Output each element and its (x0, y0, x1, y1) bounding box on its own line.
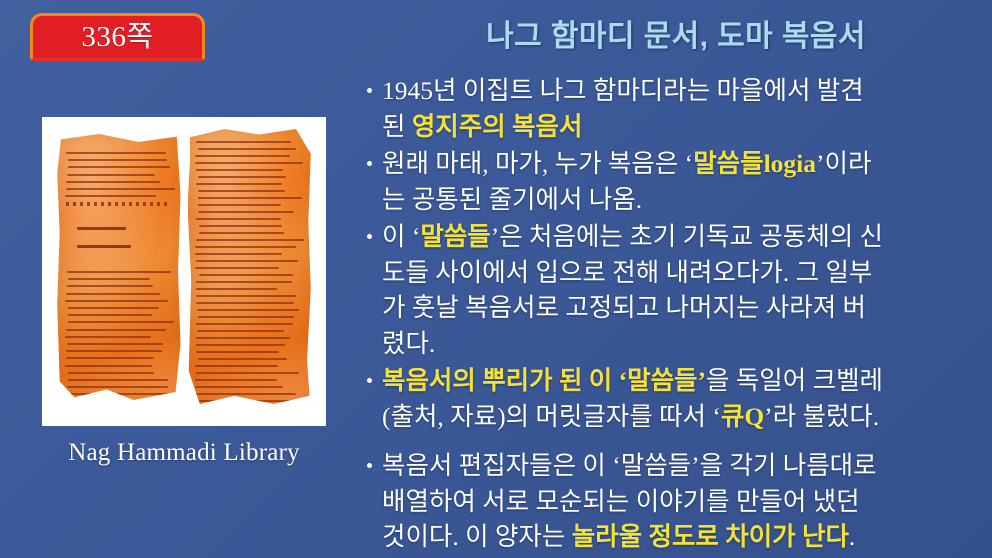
manuscript-text-line (65, 195, 156, 197)
bullet-item: 원래 마태, 마가, 누가 복음은 ‘말씀들logia’이라는 공통된 줄기에서… (365, 146, 985, 217)
bullet-list: 1945년 이집트 나그 함마디라는 마을에서 발견된 영지주의 복음서원래 마… (365, 73, 985, 555)
manuscript-text-line (198, 176, 285, 178)
body-text: 복음서 편집자들은 이 ‘말씀들’을 각기 나름대로 (382, 451, 877, 480)
manuscript-text-line (68, 278, 150, 280)
bullet-dot-icon (367, 88, 372, 93)
manuscript-text-line (196, 218, 281, 220)
papyrus-page-left (57, 134, 180, 400)
bullet-line: 복음서의 뿌리가 된 이 ‘말씀들’을 독일어 크벨레 (382, 363, 985, 399)
manuscript-text-line (195, 267, 279, 269)
bullet-line: 된 영지주의 복음서 (382, 109, 985, 145)
manuscript-text-line (68, 166, 171, 168)
manuscript-text-line (196, 295, 296, 297)
manuscript-text-line (199, 400, 298, 402)
manuscript-text-line (65, 300, 167, 302)
manuscript-text-line (199, 274, 293, 276)
manuscript-text-line (195, 393, 295, 395)
bullet-line: 원래 마태, 마가, 누가 복음은 ‘말씀들logia’이라 (382, 146, 985, 182)
manuscript-text-line (68, 159, 168, 161)
manuscript-text-line (196, 169, 283, 171)
body-text: 된 (382, 112, 412, 141)
page-number-badge: 336쪽 (30, 13, 205, 61)
manuscript-text-line (198, 358, 287, 360)
manuscript-text-line (195, 379, 277, 381)
manuscript-text-line (197, 330, 284, 332)
bullet-dot-icon (367, 234, 372, 239)
body-text: 는 공통된 줄기에서 나옴. (382, 185, 642, 214)
body-text: 이 ‘ (382, 222, 420, 251)
manuscript-text-line (68, 314, 152, 316)
bullet-line: 복음서 편집자들은 이 ‘말씀들’을 각기 나름대로 (382, 448, 985, 484)
manuscript-text-line (196, 141, 292, 143)
manuscript-text-line (196, 337, 290, 339)
body-text: 도들 사이에서 입으로 전해 내려오다가. 그 일부 (382, 258, 872, 287)
bullet-dot-icon (367, 463, 372, 468)
body-text: ’라 불렀다. (764, 402, 879, 431)
manuscript-text-line (195, 386, 283, 388)
manuscript-text-line (66, 181, 160, 183)
manuscript-text-line (196, 239, 304, 241)
manuscript-text-line (198, 414, 298, 416)
highlighted-text: 놀라울 정도로 차이가 난다 (572, 522, 849, 551)
manuscript-text-line (66, 293, 160, 295)
bullet-line: 것이다. 이 양자는 놀라울 정도로 차이가 난다. (382, 519, 985, 555)
manuscript-text-line (195, 365, 278, 367)
manuscript-text-line (196, 260, 298, 262)
manuscript-text-line (196, 351, 279, 353)
manuscript-text-line (198, 407, 288, 409)
body-text: 렸다. (382, 329, 435, 358)
nag-hammadi-codex-photo (42, 117, 326, 426)
bullet-item: 복음서 편집자들은 이 ‘말씀들’을 각기 나름대로배열하여 서로 모순되는 이… (365, 448, 985, 555)
manuscript-text-line (196, 323, 293, 325)
manuscript-text-line (198, 211, 293, 213)
bullet-dot-icon (367, 378, 372, 383)
bullet-line: 렸다. (382, 326, 985, 362)
manuscript-text-line (195, 253, 281, 255)
bullet-line: 이 ‘말씀들’은 처음에는 초기 기독교 공동체의 신 (382, 219, 985, 255)
manuscript-heading-line (77, 227, 126, 230)
bullet-line: 는 공통된 줄기에서 나옴. (382, 182, 985, 218)
manuscript-heading-line (77, 245, 131, 248)
slide-canvas: 336쪽 Nag Hammadi Library 나그 함마디 문서, 도마 복… (0, 0, 992, 558)
manuscript-text-line (67, 285, 153, 287)
manuscript-text-line (68, 321, 174, 323)
bullet-item: 이 ‘말씀들’은 처음에는 초기 기독교 공동체의 신도들 사이에서 입으로 전… (365, 219, 985, 361)
manuscript-text-line (66, 357, 154, 359)
manuscript-text-line (195, 155, 290, 157)
manuscript-text-line (67, 386, 168, 388)
manuscript-text-line (65, 365, 152, 367)
bullet-line: 도들 사이에서 입으로 전해 내려오다가. 그 일부 (382, 255, 985, 291)
manuscript-text-line (67, 393, 168, 395)
manuscript-text-line (198, 190, 284, 192)
manuscript-text-line (66, 152, 166, 154)
highlighted-text: 복음서의 뿌리가 된 이 ‘말씀들’ (382, 366, 706, 395)
figure-block: Nag Hammadi Library (42, 117, 326, 467)
manuscript-text-line (196, 281, 292, 283)
page-number-label: 336쪽 (81, 23, 153, 52)
manuscript-text-line (66, 188, 174, 190)
manuscript-text-line (196, 302, 294, 304)
page-title: 나그 함마디 문서, 도마 복음서 (360, 11, 992, 55)
figure-caption: Nag Hammadi Library (42, 439, 326, 467)
bullet-line: 1945년 이집트 나그 함마디라는 마을에서 발견 (382, 73, 985, 109)
highlighted-text: 큐Q (721, 402, 764, 431)
manuscript-text-line (198, 316, 294, 318)
manuscript-text-line (68, 372, 154, 374)
manuscript-text-line (66, 329, 167, 331)
bullet-line: 가 훗날 복음서로 고정되고 나머지는 사라져 버 (382, 290, 985, 326)
manuscript-text-line (195, 246, 296, 248)
manuscript-text-line (67, 174, 154, 176)
manuscript-ornament (66, 202, 170, 206)
manuscript-text-line (68, 307, 159, 309)
manuscript-text-line (196, 344, 285, 346)
manuscript-text-line (199, 232, 285, 234)
bullet-line: 배열하여 서로 모순되는 이야기를 만들어 냈던 (382, 484, 985, 520)
papyrus-pages (50, 126, 318, 418)
body-text: 1945년 이집트 나그 함마디라는 마을에서 발견 (382, 76, 864, 105)
body-text: 원래 마태, 마가, 누가 복음은 ‘ (382, 149, 693, 178)
bullet-dot-icon (367, 161, 372, 166)
manuscript-text-line (67, 401, 166, 403)
manuscript-text-line (67, 271, 171, 273)
body-text: 배열하여 서로 모순되는 이야기를 만들어 냈던 (382, 487, 860, 516)
body-text: 을 독일어 크벨레 (706, 366, 883, 395)
body-text: ’은 처음에는 초기 기독교 공동체의 신 (491, 222, 883, 251)
manuscript-text-line (67, 343, 163, 345)
body-text: . (849, 522, 855, 551)
manuscript-text-line (65, 336, 151, 338)
body-text: 가 훗날 복음서로 고정되고 나머지는 사라져 버 (382, 293, 866, 322)
body-text: 것이다. 이 양자는 (382, 522, 572, 551)
manuscript-text-line (198, 148, 296, 150)
manuscript-text-line (197, 309, 299, 311)
body-text: (출처, 자료)의 머릿글자를 따서 ‘ (382, 402, 721, 431)
manuscript-text-line (198, 204, 281, 206)
body-text: ’이라 (816, 149, 871, 178)
manuscript-text-line (66, 350, 163, 352)
manuscript-text-line (196, 288, 278, 290)
bullet-line: (출처, 자료)의 머릿글자를 따서 ‘큐Q’라 불렀다. (382, 399, 985, 435)
manuscript-text-line (68, 379, 169, 381)
bullet-item: 복음서의 뿌리가 된 이 ‘말씀들’을 독일어 크벨레(출처, 자료)의 머릿글… (365, 363, 985, 434)
manuscript-text-line (195, 162, 303, 164)
highlighted-text: 말씀들 (420, 222, 490, 251)
manuscript-text-line (199, 225, 282, 227)
highlighted-text: 말씀들logia (693, 149, 816, 178)
manuscript-text-line (196, 372, 299, 374)
highlighted-text: 영지주의 복음서 (412, 112, 583, 141)
manuscript-text-line (196, 183, 283, 185)
manuscript-text-line (198, 197, 302, 199)
bullet-item: 1945년 이집트 나그 함마디라는 마을에서 발견된 영지주의 복음서 (365, 73, 985, 144)
papyrus-page-right (188, 129, 311, 404)
